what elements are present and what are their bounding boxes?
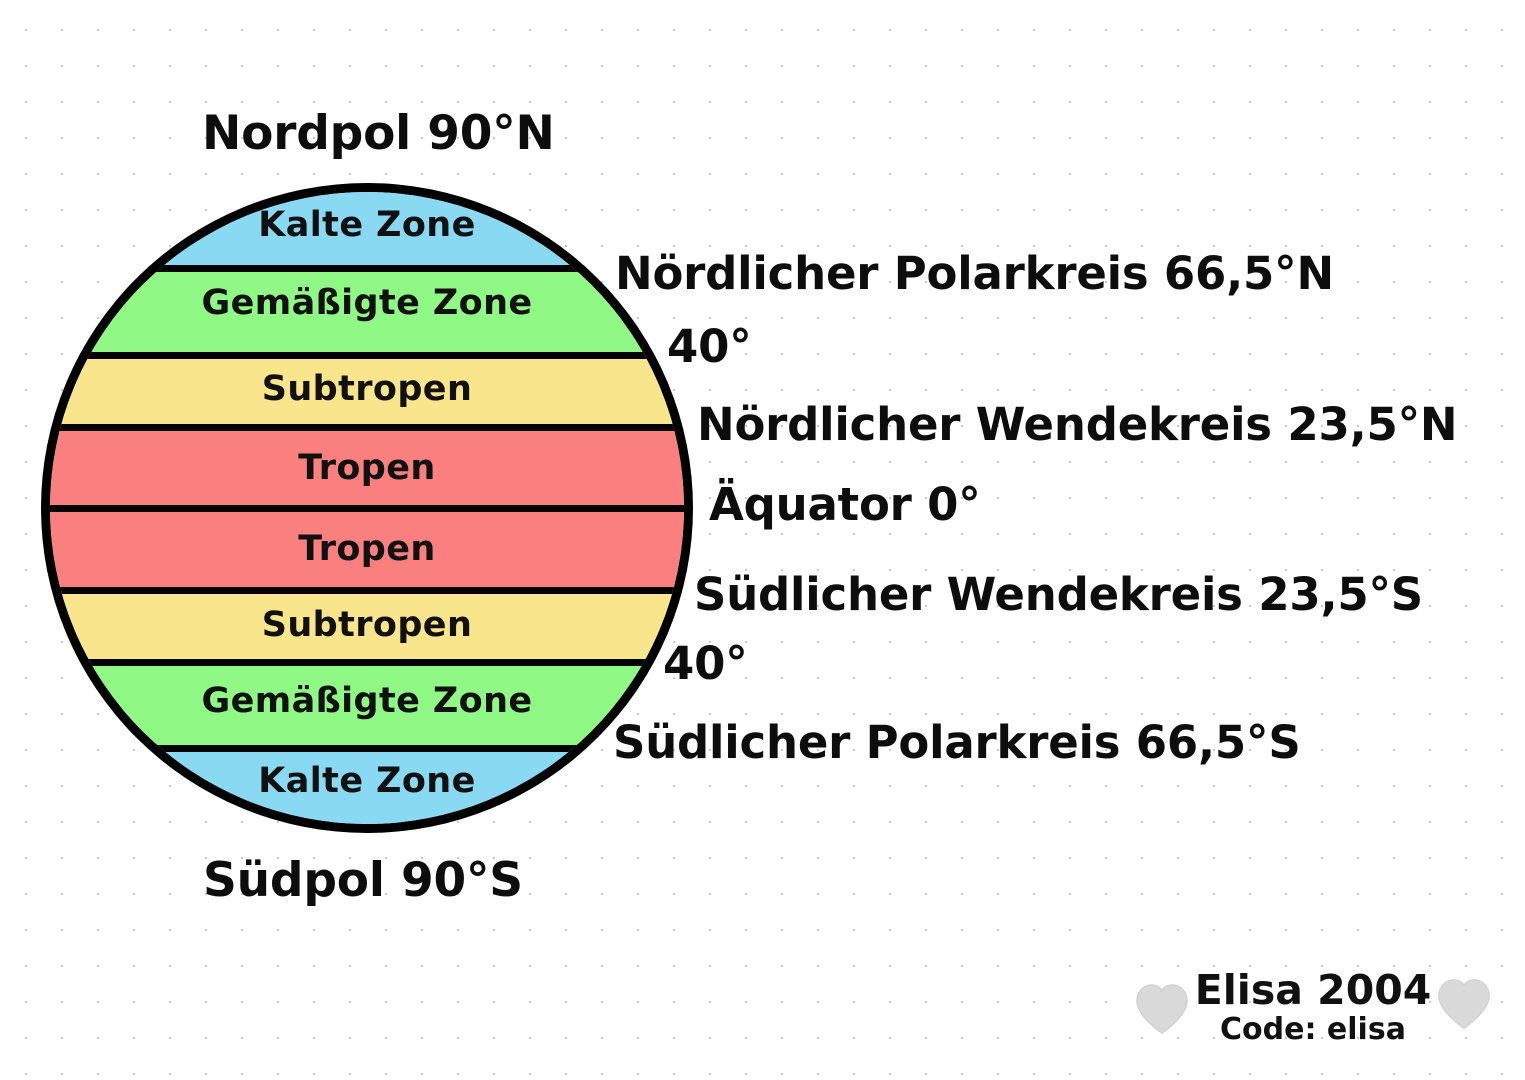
label-wendekreis-sued: Südlicher Wendekreis 23,5°S xyxy=(694,568,1423,621)
latitude-line-polarkreis-sued xyxy=(41,745,693,752)
latitude-line-40-nord xyxy=(41,352,693,359)
globe-zone-bands: Kalte Zone Gemäßigte Zone Subtropen Trop… xyxy=(41,183,693,833)
zone-label-subtropen-south: Subtropen xyxy=(41,605,693,645)
latitude-line-40-sued xyxy=(41,659,693,666)
zone-label-kalte-zone-south: Kalte Zone xyxy=(41,761,693,801)
signature-code: Code: elisa xyxy=(1195,1014,1432,1045)
zone-label-tropen-north: Tropen xyxy=(41,448,693,488)
latitude-line-wendekreis-nord xyxy=(41,424,693,431)
zone-label-subtropen-north: Subtropen xyxy=(41,369,693,409)
signature-name: Elisa 2004 xyxy=(1195,969,1432,1012)
signature-text: Elisa 2004 Code: elisa xyxy=(1195,969,1432,1045)
label-aequator: Äquator 0° xyxy=(709,478,981,531)
signature-block: Elisa 2004 Code: elisa xyxy=(1128,962,1498,1052)
label-polarkreis-sued: Südlicher Polarkreis 66,5°S xyxy=(613,716,1301,769)
zone-label-gemaessigte-zone-north: Gemäßigte Zone xyxy=(41,283,693,323)
globe-diagram: Kalte Zone Gemäßigte Zone Subtropen Trop… xyxy=(41,183,693,833)
latitude-line-wendekreis-sued xyxy=(41,587,693,594)
heart-icon-right xyxy=(1433,974,1495,1036)
label-40-nord: 40° xyxy=(667,320,752,373)
label-suedpol: Südpol 90°S xyxy=(203,853,523,908)
zone-label-kalte-zone-north: Kalte Zone xyxy=(41,205,693,245)
label-40-sued: 40° xyxy=(663,637,748,690)
latitude-line-aequator xyxy=(41,505,693,512)
latitude-line-polarkreis-nord xyxy=(41,265,693,272)
heart-icon-left xyxy=(1131,979,1193,1041)
zone-label-gemaessigte-zone-south: Gemäßigte Zone xyxy=(41,681,693,721)
zone-label-tropen-south: Tropen xyxy=(41,529,693,569)
label-nordpol: Nordpol 90°N xyxy=(202,106,555,161)
label-polarkreis-nord: Nördlicher Polarkreis 66,5°N xyxy=(615,247,1334,300)
label-wendekreis-nord: Nördlicher Wendekreis 23,5°N xyxy=(697,398,1457,451)
